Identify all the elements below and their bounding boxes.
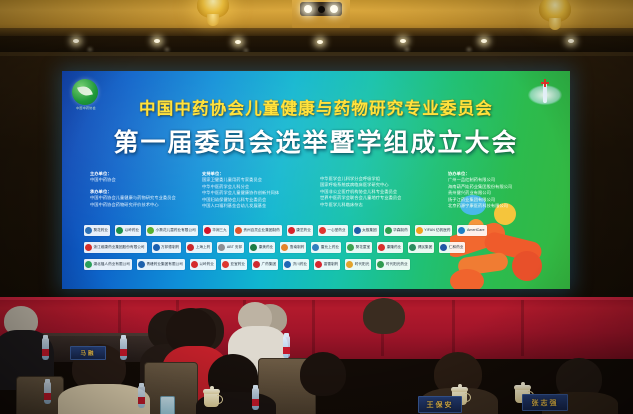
sponsor-logo: 仁和药业 bbox=[439, 242, 465, 253]
sponsor-logo: YIFAN 亿帆医药 bbox=[415, 225, 453, 236]
sponsor-logo-name: 葵花药业 bbox=[94, 228, 109, 232]
sponsor-logo-name: 康隆药业 bbox=[387, 245, 402, 249]
sponsor-logo-mark-icon bbox=[85, 244, 92, 251]
sponsor-logo: 青峰药业集团有限公司 bbox=[137, 259, 185, 270]
sponsor-logo-mark-icon bbox=[218, 244, 225, 251]
sponsor-logo-name: 广药集团 bbox=[262, 262, 277, 266]
sponsor-logo-name: YIFAN 亿帆医药 bbox=[424, 228, 450, 232]
sponsor-logo: 华润三九 bbox=[203, 225, 229, 236]
chandelier-right bbox=[535, 0, 575, 30]
audience-beige-jacket bbox=[58, 384, 150, 414]
organizer-credits: 主办单位： 中国中药协会 承办单位： 中国中药协会儿童健康与药物研究专业委员会 … bbox=[90, 171, 558, 223]
sponsor-logo-mark-icon bbox=[354, 227, 361, 234]
sponsor-logo-name: 上海上药 bbox=[196, 245, 211, 249]
screen-title-secondary: 第一届委员会选举暨学组成立大会 bbox=[62, 123, 570, 159]
ceiling-spotlight bbox=[481, 39, 487, 43]
sponsor-logo-mark-icon bbox=[116, 227, 123, 234]
sponsor-logo: 雷允上药业 bbox=[311, 242, 341, 253]
sponsor-logo: 时代阳光药业 bbox=[376, 259, 409, 270]
sponsor-logo-mark-icon bbox=[281, 244, 288, 251]
sponsor-logo: AmeriCare bbox=[457, 225, 486, 236]
ceiling-spotlight bbox=[73, 39, 79, 43]
sponsor-logo-mark-icon bbox=[153, 244, 160, 251]
tea-cup bbox=[204, 392, 219, 407]
sponsor-logo: 万邦德制药 bbox=[152, 242, 182, 253]
sponsor-logo-mark-icon bbox=[346, 261, 353, 268]
sponsor-logo: 葵花童宝 bbox=[346, 242, 372, 253]
water-bottle bbox=[120, 338, 127, 360]
water-bottle bbox=[283, 336, 290, 358]
sponsor-logo-mark-icon bbox=[85, 261, 92, 268]
sponsor-logo-name: 时代阳光药业 bbox=[386, 262, 408, 266]
sponsor-logo-name: 太极集团 bbox=[362, 228, 377, 232]
sponsor-logo-name: 湖北福人药业有限公司 bbox=[94, 262, 130, 266]
name-placard: 马融 bbox=[70, 346, 106, 360]
audience-head bbox=[300, 352, 346, 396]
smartphone[interactable] bbox=[160, 396, 175, 414]
sponsor-logo: 小葵花儿童药业有限公司 bbox=[146, 225, 198, 236]
sponsor-logo-name: 华森制药 bbox=[393, 228, 408, 232]
organizer-line: 中国中药协会药物研究评价技术中心 bbox=[90, 202, 202, 208]
sponsor-logo-mark-icon bbox=[222, 261, 229, 268]
sponsor-logo-name: 青峰药业集团有限公司 bbox=[146, 262, 182, 266]
sponsor-logo-mark-icon bbox=[204, 227, 211, 234]
sponsor-logo: 香雪制药 bbox=[314, 259, 340, 270]
wall-top-trim bbox=[0, 52, 633, 56]
sponsor-logo-name: 葵花童宝 bbox=[356, 245, 371, 249]
sponsor-logo-name: 仁和药业 bbox=[449, 245, 464, 249]
sponsor-logo-mark-icon bbox=[347, 244, 354, 251]
sponsor-logo-name: AmeriCare bbox=[467, 228, 485, 232]
organizer-column-cosponsor: 协办单位： 广州一品红制药有限公司 海南葫芦娃药业集团股份有限公司 贵州健兴药业… bbox=[448, 171, 558, 223]
sponsor-logo: 以岭药业 bbox=[190, 259, 216, 270]
sponsor-logo-mark-icon bbox=[315, 261, 322, 268]
sponsor-logo-mark-icon bbox=[409, 244, 416, 251]
sponsor-logo: 济川药业 bbox=[283, 259, 309, 270]
sponsor-logo-row: 浙江维康药业集团股份有限公司万邦德制药上海上药ABT 安邦康美药业鲁南制药雷允上… bbox=[84, 240, 552, 254]
ceiling-spotlight bbox=[235, 40, 241, 44]
sponsor-logo-row: 湖北福人药业有限公司青峰药业集团有限公司以岭药业亚宝药业广药集团济川药业香雪制药… bbox=[84, 257, 552, 271]
sponsor-logo-name: 万邦德制药 bbox=[161, 245, 179, 249]
water-bottle bbox=[42, 338, 49, 360]
chandelier-left bbox=[193, 0, 233, 26]
audience-area: 王保安 张志强 马融 bbox=[0, 300, 633, 414]
sponsor-logo-name: 浙江维康药业集团股份有限公司 bbox=[94, 245, 145, 249]
sponsor-logo-mark-icon bbox=[319, 227, 326, 234]
audience-chair bbox=[16, 376, 64, 414]
sponsor-logo-name: 华润三九 bbox=[212, 228, 227, 232]
ceiling-spotlight bbox=[400, 39, 406, 43]
organizer-line: 北京药源宁康医药科技有限公司 bbox=[448, 203, 558, 209]
sponsor-logo-name: 贵州百灵企业集团制药 bbox=[243, 228, 279, 232]
sponsor-logo: 广药集团 bbox=[252, 259, 278, 270]
sponsor-logo-mark-icon bbox=[416, 227, 423, 234]
sponsor-logo: 上海上药 bbox=[186, 242, 212, 253]
ceiling-spotlight bbox=[154, 39, 160, 43]
water-bottle bbox=[44, 382, 51, 404]
ceiling-spotlight bbox=[317, 40, 323, 44]
sponsor-logo-name: 亚宝药业 bbox=[230, 262, 245, 266]
organizer-column-academic: 中华医学会儿科学分会呼吸学组 国家呼吸系统疾病临床医学研究中心 中国非公立医疗机… bbox=[320, 171, 448, 223]
sponsor-logo-name: 济川药业 bbox=[293, 262, 308, 266]
sponsor-logo: 湖北福人药业有限公司 bbox=[84, 259, 132, 270]
sponsor-logo-name: 一心堂药业 bbox=[327, 228, 345, 232]
sponsor-logo-name: 时代阳光 bbox=[355, 262, 370, 266]
sponsor-logo: 以岭药业 bbox=[115, 225, 141, 236]
organizer-line: 中华医学儿科临床杂志 bbox=[320, 202, 448, 208]
sponsor-logo-name: 以岭药业 bbox=[125, 228, 140, 232]
organizer-column-host: 主办单位： 中国中药协会 承办单位： 中国中药协会儿童健康与药物研究专业委员会 … bbox=[90, 171, 202, 223]
water-bottle bbox=[138, 386, 145, 408]
sponsor-logo-mark-icon bbox=[288, 227, 295, 234]
screen-title-primary: 中国中药协会儿童健康与药物研究专业委员会 bbox=[62, 95, 570, 119]
sponsor-logo: 鲁南制药 bbox=[280, 242, 306, 253]
sponsor-logo-row: 葵花药业以岭药业小葵花儿童药业有限公司华润三九贵州百灵企业集团制药康芝药业一心堂… bbox=[84, 223, 552, 237]
sponsor-logo-mark-icon bbox=[377, 261, 384, 268]
sponsor-logo-name: 健民集团 bbox=[418, 245, 433, 249]
sponsor-logo-name: 香雪制药 bbox=[324, 262, 339, 266]
sponsor-logo-mark-icon bbox=[138, 261, 145, 268]
sponsor-logo: 太极集团 bbox=[353, 225, 379, 236]
audience-head bbox=[363, 298, 405, 334]
sponsor-logo-mark-icon bbox=[191, 261, 198, 268]
sponsor-logo: 康美药业 bbox=[249, 242, 275, 253]
led-stage-screen: 中国中药协会 中国中药协会儿童健康与药物研究专业委员会 第一届委员会选举暨学组成… bbox=[62, 71, 570, 289]
sponsor-logo-name: 小葵花儿童药业有限公司 bbox=[156, 228, 196, 232]
sponsor-logo: 康隆药业 bbox=[377, 242, 403, 253]
sponsor-logo: 时代阳光 bbox=[345, 259, 371, 270]
organizer-line: 中国人口福利基金会幼儿发展基金 bbox=[202, 203, 320, 209]
sponsor-logo-mark-icon bbox=[147, 227, 154, 234]
sponsor-logo-name: 康芝药业 bbox=[296, 228, 311, 232]
sponsor-logo-name: 雷允上药业 bbox=[321, 245, 339, 249]
sponsor-logo-mark-icon bbox=[440, 244, 447, 251]
sponsor-logo-name: 康美药业 bbox=[259, 245, 274, 249]
water-bottle bbox=[252, 388, 259, 410]
name-placard-text: 马融 bbox=[80, 349, 95, 357]
sponsor-logo-mark-icon bbox=[235, 227, 242, 234]
sponsor-logo-mark-icon bbox=[250, 244, 257, 251]
sponsor-logo-mark-icon bbox=[378, 244, 385, 251]
sponsor-logo: 葵花药业 bbox=[84, 225, 110, 236]
name-placard-text: 张志强 bbox=[532, 398, 559, 408]
name-placard: 王保安 bbox=[418, 396, 462, 413]
sponsor-logo: ABT 安邦 bbox=[217, 242, 244, 253]
sponsor-logo-name: ABT 安邦 bbox=[227, 245, 242, 249]
sponsor-logo-name: 以岭药业 bbox=[199, 262, 214, 266]
sponsor-logo-mark-icon bbox=[312, 244, 319, 251]
sponsor-logo: 贵州百灵企业集团制药 bbox=[234, 225, 282, 236]
sponsor-logo-mark-icon bbox=[385, 227, 392, 234]
sponsor-logo: 亚宝药业 bbox=[221, 259, 247, 270]
organizer-column-support: 支持单位： 国家卫健委儿童用药专家委员会 中华中医药学会儿科分会 中华中医药学会… bbox=[202, 171, 320, 223]
ceiling-spotlight bbox=[568, 39, 574, 43]
sponsor-logo-mark-icon bbox=[187, 244, 194, 251]
name-placard-text: 王保安 bbox=[427, 400, 454, 410]
sponsor-logo: 浙江维康药业集团股份有限公司 bbox=[84, 242, 147, 253]
sponsor-logo-mark-icon bbox=[85, 227, 92, 234]
sponsor-logo-name: 鲁南制药 bbox=[290, 245, 305, 249]
sponsor-logo: 健民集团 bbox=[408, 242, 434, 253]
ceiling-projector bbox=[300, 2, 342, 16]
projector-lens bbox=[318, 6, 325, 13]
sponsor-logo: 华森制药 bbox=[384, 225, 410, 236]
sponsor-logo-mark-icon bbox=[458, 227, 465, 234]
name-placard: 张志强 bbox=[522, 394, 568, 411]
sponsor-logo: 一心堂药业 bbox=[318, 225, 348, 236]
sponsor-logo-mark-icon bbox=[253, 261, 260, 268]
sponsor-logo: 康芝药业 bbox=[287, 225, 313, 236]
conference-hall-photo: 中国中药协会 中国中药协会儿童健康与药物研究专业委员会 第一届委员会选举暨学组成… bbox=[0, 0, 633, 414]
sponsor-logo-mark-icon bbox=[284, 261, 291, 268]
sponsor-logo-grid: 葵花药业以岭药业小葵花儿童药业有限公司华润三九贵州百灵企业集团制药康芝药业一心堂… bbox=[84, 223, 552, 274]
